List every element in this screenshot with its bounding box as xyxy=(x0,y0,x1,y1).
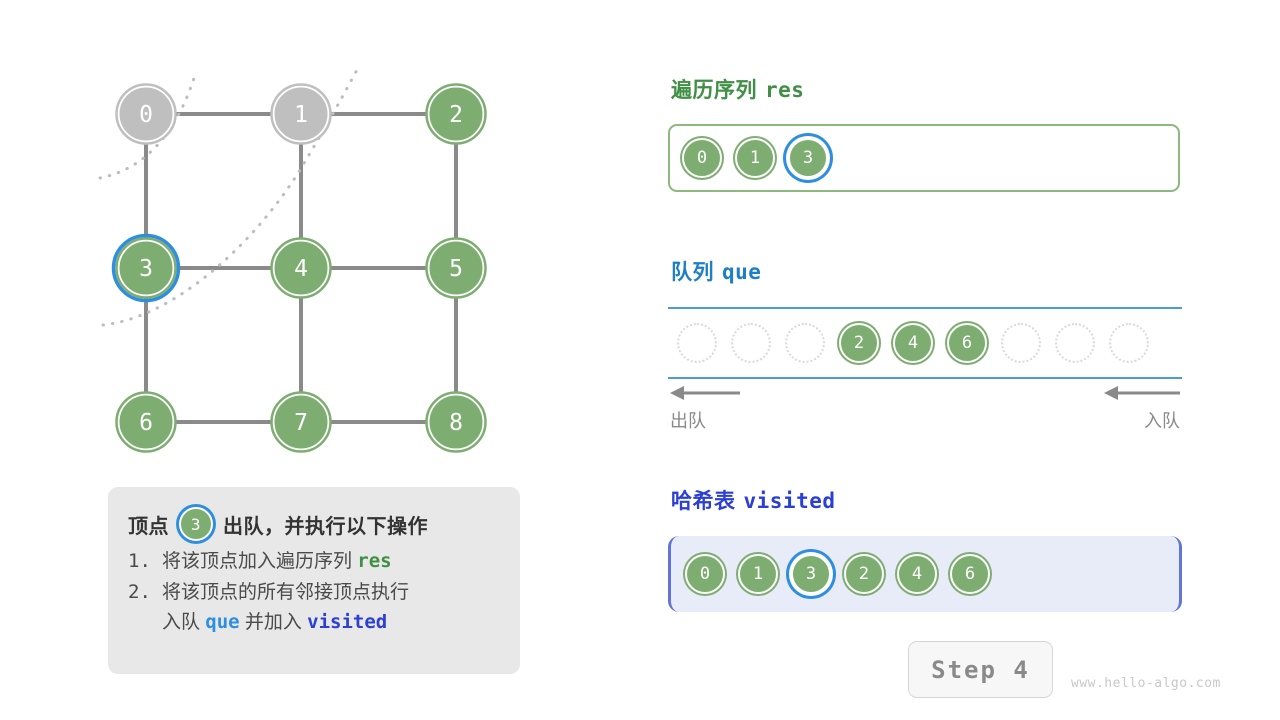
enqueue-label: 入队 xyxy=(1144,407,1180,433)
node-label: 8 xyxy=(449,410,463,436)
queue-item-2: 2 xyxy=(839,323,879,363)
enqueue-arrow-icon xyxy=(1102,383,1182,407)
caption-step-2-num: 2. xyxy=(128,578,162,637)
visited-title-cn: 哈希表 xyxy=(671,490,736,513)
visited-section-title: 哈希表visited xyxy=(671,485,836,515)
node-label: 0 xyxy=(139,102,153,128)
caption-step-2-pre: 将该顶点的所有邻接顶点执行 xyxy=(162,582,409,603)
graph-node-0[interactable]: 0 xyxy=(117,85,176,144)
graph-node-6[interactable]: 6 xyxy=(117,393,176,452)
queue-arrows: 出队 入队 xyxy=(668,383,1182,439)
caption-box: 顶点 3 出队，并执行以下操作 1. 将该顶点加入遍历序列 res 2. 将该顶… xyxy=(108,487,520,674)
node-label: 7 xyxy=(294,410,308,436)
state-panel: 遍历序列res 013 队列que 246 出队 入队 哈希表visited 0… xyxy=(666,0,1280,720)
node-label: 4 xyxy=(294,256,308,282)
bfs-illustration-root: 012345678 顶点 3 出队，并执行以下操作 1. 将该顶点加入遍历序列 … xyxy=(0,0,1280,720)
graph-node-1[interactable]: 1 xyxy=(272,85,331,144)
dequeue-label: 出队 xyxy=(670,407,706,433)
que-section-title: 队列que xyxy=(671,256,761,286)
caption-headline: 顶点 3 出队，并执行以下操作 xyxy=(128,503,500,545)
caption-step-1: 1. 将该顶点加入遍历序列 res xyxy=(128,547,500,576)
graph-node-5[interactable]: 5 xyxy=(427,239,486,298)
res-item-3: 3 xyxy=(788,138,828,178)
queue-slot-empty xyxy=(1055,323,1095,363)
node-label: 5 xyxy=(449,256,463,282)
caption-step-2: 2. 将该顶点的所有邻接顶点执行 入队 que 并加入 visited xyxy=(128,578,500,637)
caption-vertex-word: 顶点 xyxy=(128,510,169,539)
caption-step-2-mid: 并加入 xyxy=(240,612,308,633)
graph-panel: 012345678 xyxy=(0,0,600,480)
caption-step-1-num: 1. xyxy=(128,547,162,576)
graph-nodes: 012345678 xyxy=(114,85,486,452)
que-title-code: que xyxy=(722,260,761,284)
res-container: 013 xyxy=(668,124,1180,192)
queue-container: 246 xyxy=(668,307,1182,379)
watermark: www.hello-algo.com xyxy=(1071,676,1221,691)
res-item-0: 0 xyxy=(682,138,722,178)
queue-item-4: 4 xyxy=(893,323,933,363)
dequeue-arrow-icon xyxy=(668,383,748,407)
node-label: 1 xyxy=(294,102,308,128)
graph-node-2[interactable]: 2 xyxy=(427,85,486,144)
visited-item-3: 3 xyxy=(791,554,831,594)
res-item-1: 1 xyxy=(735,138,775,178)
caption-vertex-chip: 3 xyxy=(179,507,213,541)
visited-item-1: 1 xyxy=(738,554,778,594)
graph-node-3[interactable]: 3 xyxy=(114,236,179,301)
node-label: 2 xyxy=(449,102,463,128)
graph-node-7[interactable]: 7 xyxy=(272,393,331,452)
visited-item-4: 4 xyxy=(897,554,937,594)
queue-slot-empty xyxy=(677,323,717,363)
caption-step-2-code-que: que xyxy=(205,611,239,633)
caption-action-text: 出队，并执行以下操作 xyxy=(223,510,428,539)
caption-step-1-text: 将该顶点加入遍历序列 res xyxy=(162,547,392,576)
step-badge: Step 4 xyxy=(908,641,1053,698)
queue-slot-empty xyxy=(785,323,825,363)
caption-step-2-code-visited: visited xyxy=(307,611,387,633)
caption-step-2-text: 将该顶点的所有邻接顶点执行 入队 que 并加入 visited xyxy=(162,578,409,637)
visited-item-6: 6 xyxy=(950,554,990,594)
graph-node-4[interactable]: 4 xyxy=(272,239,331,298)
visited-container: 013246 xyxy=(668,536,1182,612)
res-title-cn: 遍历序列 xyxy=(671,79,757,102)
visited-item-0: 0 xyxy=(685,554,725,594)
queue-item-6: 6 xyxy=(947,323,987,363)
visited-title-code: visited xyxy=(744,489,836,513)
queue-slot-empty xyxy=(1109,323,1149,363)
caption-step-2-line2-pre: 入队 xyxy=(162,612,205,633)
res-title-code: res xyxy=(765,78,804,102)
queue-slot-empty xyxy=(731,323,771,363)
visited-item-2: 2 xyxy=(844,554,884,594)
caption-step-1-pre: 将该顶点加入遍历序列 xyxy=(162,551,357,572)
node-label: 3 xyxy=(139,256,153,282)
res-section-title: 遍历序列res xyxy=(671,74,804,104)
que-title-cn: 队列 xyxy=(671,261,714,284)
caption-step-1-code-res: res xyxy=(357,550,391,572)
graph-node-8[interactable]: 8 xyxy=(427,393,486,452)
node-label: 6 xyxy=(139,410,153,436)
queue-slot-empty xyxy=(1001,323,1041,363)
graph-svg: 012345678 xyxy=(0,0,600,480)
